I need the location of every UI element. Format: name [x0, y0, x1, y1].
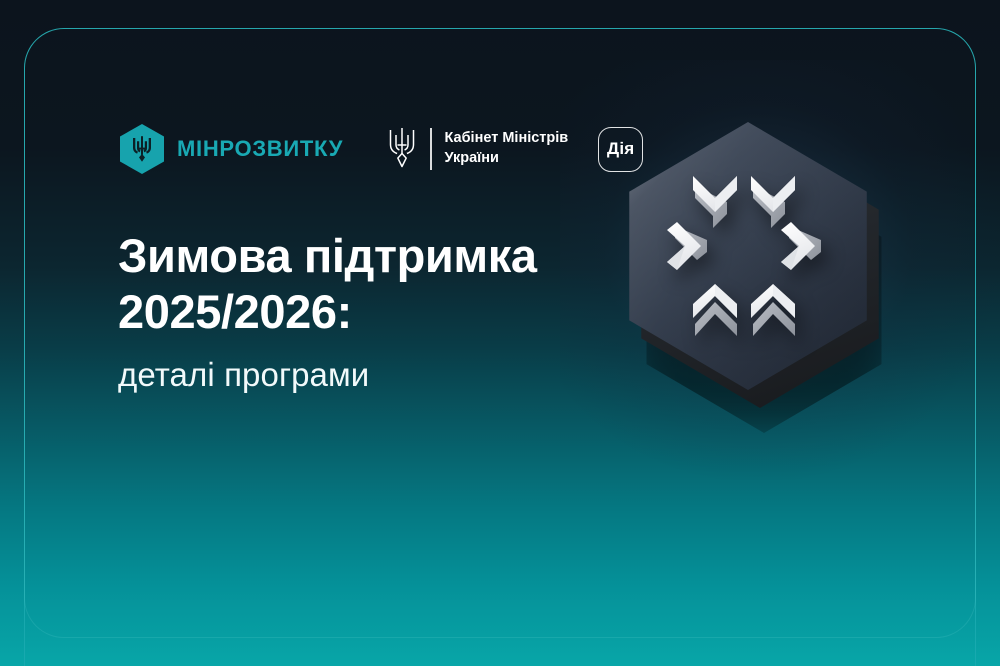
snowflake-hexagon-3d-icon	[605, 108, 905, 428]
logo-divider	[430, 128, 431, 170]
logo-cabinet-of-ministers[interactable]: Кабінет Міністрів України	[387, 125, 568, 174]
headline-line-1: Зимова підтримка	[118, 228, 638, 284]
page-title: Зимова підтримка 2025/2026:	[118, 228, 638, 340]
ukraine-trident-icon	[387, 125, 417, 174]
winter-support-banner: МІНРОЗВИТКУ Кабін	[0, 0, 1000, 666]
kmu-line-2: України	[445, 150, 499, 166]
ukraine-trident-hexagon-icon	[120, 124, 164, 174]
logo-minrozvytku[interactable]: МІНРОЗВИТКУ	[120, 124, 343, 174]
kmu-line-1: Кабінет Міністрів	[445, 130, 569, 146]
headline-line-2: 2025/2026:	[118, 284, 638, 340]
minrozvytku-wordmark: МІНРОЗВИТКУ	[177, 136, 343, 162]
snowflake-arrows-icon	[663, 164, 835, 352]
logo-row: МІНРОЗВИТКУ Кабін	[120, 121, 643, 177]
cabinet-of-ministers-wordmark: Кабінет Міністрів України	[445, 129, 569, 168]
page-subtitle: деталі програми	[118, 355, 369, 395]
